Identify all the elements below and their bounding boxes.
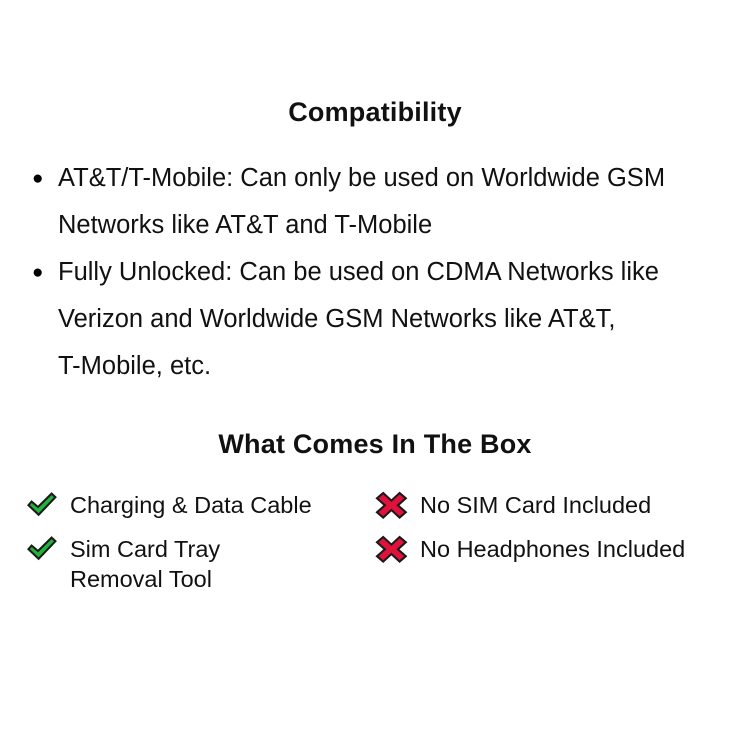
compatibility-heading: Compatibility bbox=[0, 96, 750, 128]
green-check-icon bbox=[24, 534, 60, 564]
compatibility-bullet-text: AT&T/T-Mobile: Can only be used on World… bbox=[58, 155, 750, 249]
excluded-item-no-headphones: No Headphones Included bbox=[372, 534, 742, 578]
compatibility-bullet-text: Fully Unlocked: Can be used on CDMA Netw… bbox=[58, 249, 750, 390]
included-item-sim-tray-tool: Sim Card Tray Removal Tool bbox=[22, 534, 362, 594]
red-cross-icon bbox=[374, 534, 410, 564]
included-items-column: Charging & Data Cable Sim Card Tray Remo… bbox=[22, 490, 362, 594]
excluded-item-label: No SIM Card Included bbox=[420, 490, 742, 520]
bullet-dot-icon: ● bbox=[32, 155, 50, 202]
red-cross-icon bbox=[374, 490, 410, 520]
green-check-icon bbox=[24, 490, 60, 520]
product-info-page: Compatibility ● AT&T/T-Mobile: Can only … bbox=[0, 0, 750, 750]
included-item-label: Charging & Data Cable bbox=[70, 490, 362, 520]
compatibility-bullet-att-tmobile: ● AT&T/T-Mobile: Can only be used on Wor… bbox=[0, 155, 750, 249]
compatibility-bullet-list: ● AT&T/T-Mobile: Can only be used on Wor… bbox=[0, 155, 750, 390]
bullet-dot-icon: ● bbox=[32, 249, 50, 296]
whats-in-the-box-heading: What Comes In The Box bbox=[0, 428, 750, 460]
excluded-items-column: No SIM Card Included No Headphones Inclu… bbox=[372, 490, 742, 578]
included-item-label: Sim Card Tray Removal Tool bbox=[70, 534, 362, 594]
included-item-charging-cable: Charging & Data Cable bbox=[22, 490, 362, 534]
excluded-item-label: No Headphones Included bbox=[420, 534, 742, 564]
excluded-item-no-sim-card: No SIM Card Included bbox=[372, 490, 742, 534]
compatibility-bullet-fully-unlocked: ● Fully Unlocked: Can be used on CDMA Ne… bbox=[0, 249, 750, 390]
